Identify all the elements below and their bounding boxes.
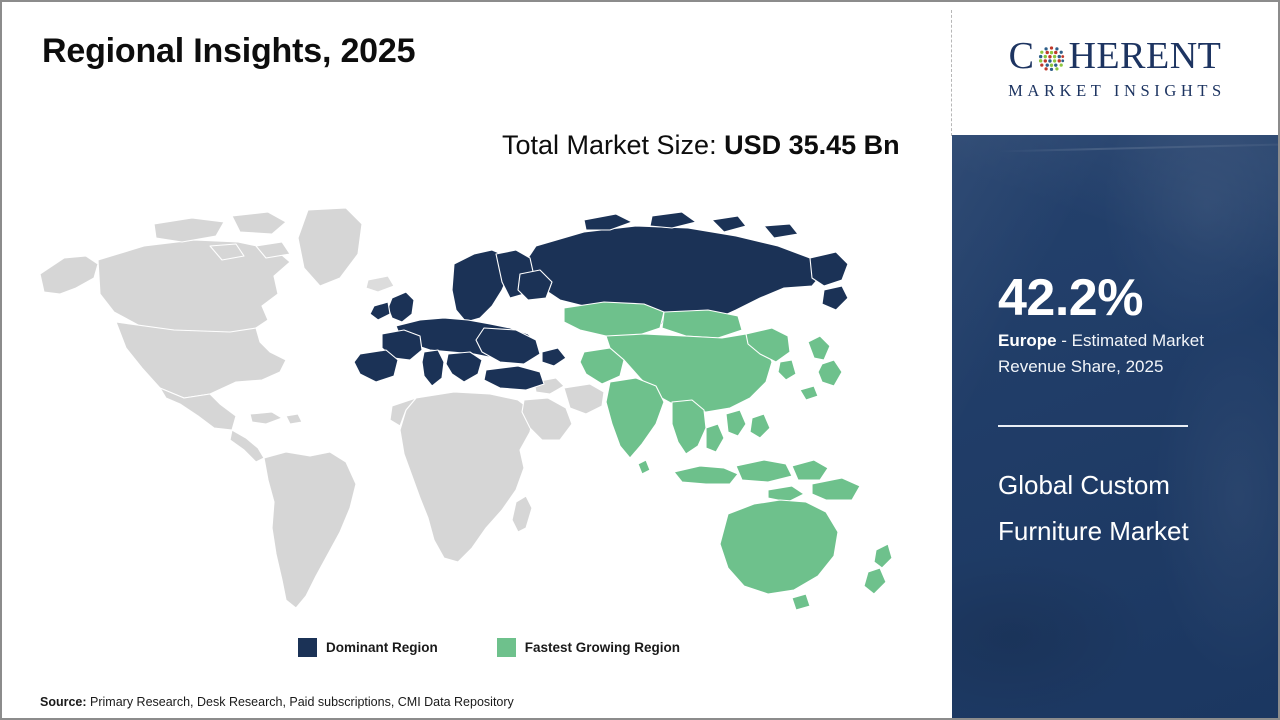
legend-item-dominant: Dominant Region bbox=[298, 638, 438, 657]
map-panel: Regional Insights, 2025 Total Market Siz… bbox=[2, 2, 952, 718]
stat-divider bbox=[998, 425, 1188, 427]
market-name: Global Custom Furniture Market bbox=[998, 463, 1248, 555]
legend-swatch-fastest-growing bbox=[497, 638, 516, 657]
logo-wordmark: C bbox=[1009, 37, 1222, 75]
globe-dots-icon bbox=[1036, 43, 1067, 74]
brand-logo: C bbox=[952, 2, 1278, 135]
right-column: C bbox=[952, 2, 1278, 718]
regional-insights-infographic: Regional Insights, 2025 Total Market Siz… bbox=[0, 0, 1280, 720]
world-map bbox=[24, 202, 904, 622]
logo-subtitle: MARKET INSIGHTS bbox=[1004, 81, 1226, 101]
total-market-size-value: USD 35.45 Bn bbox=[724, 130, 900, 160]
source-text: Primary Research, Desk Research, Paid su… bbox=[87, 695, 514, 709]
map-region-fastest-growing bbox=[564, 302, 892, 610]
panel-texture-overlay bbox=[952, 135, 1278, 718]
legend-label-fastest-growing: Fastest Growing Region bbox=[525, 640, 680, 655]
world-map-svg bbox=[24, 202, 904, 622]
legend-item-fastest-growing: Fastest Growing Region bbox=[497, 638, 680, 657]
total-market-size-callout: Total Market Size: USD 35.45 Bn bbox=[502, 126, 910, 164]
stat-value: 42.2% bbox=[998, 272, 1143, 324]
legend-swatch-dominant bbox=[298, 638, 317, 657]
legend-label-dominant: Dominant Region bbox=[326, 640, 438, 655]
source-label: Source: bbox=[40, 695, 87, 709]
source-line: Source: Primary Research, Desk Research,… bbox=[40, 695, 514, 709]
map-legend: Dominant Region Fastest Growing Region bbox=[298, 638, 680, 657]
page-title: Regional Insights, 2025 bbox=[42, 32, 415, 71]
stat-region-name: Europe bbox=[998, 331, 1057, 350]
total-market-size-label: Total Market Size: bbox=[502, 130, 724, 160]
stat-panel: 42.2% Europe - Estimated Market Revenue … bbox=[952, 135, 1278, 718]
stat-caption: Europe - Estimated Market Revenue Share,… bbox=[998, 328, 1260, 379]
logo-letters-rest: HERENT bbox=[1068, 37, 1221, 75]
logo-letter-c: C bbox=[1009, 37, 1035, 75]
